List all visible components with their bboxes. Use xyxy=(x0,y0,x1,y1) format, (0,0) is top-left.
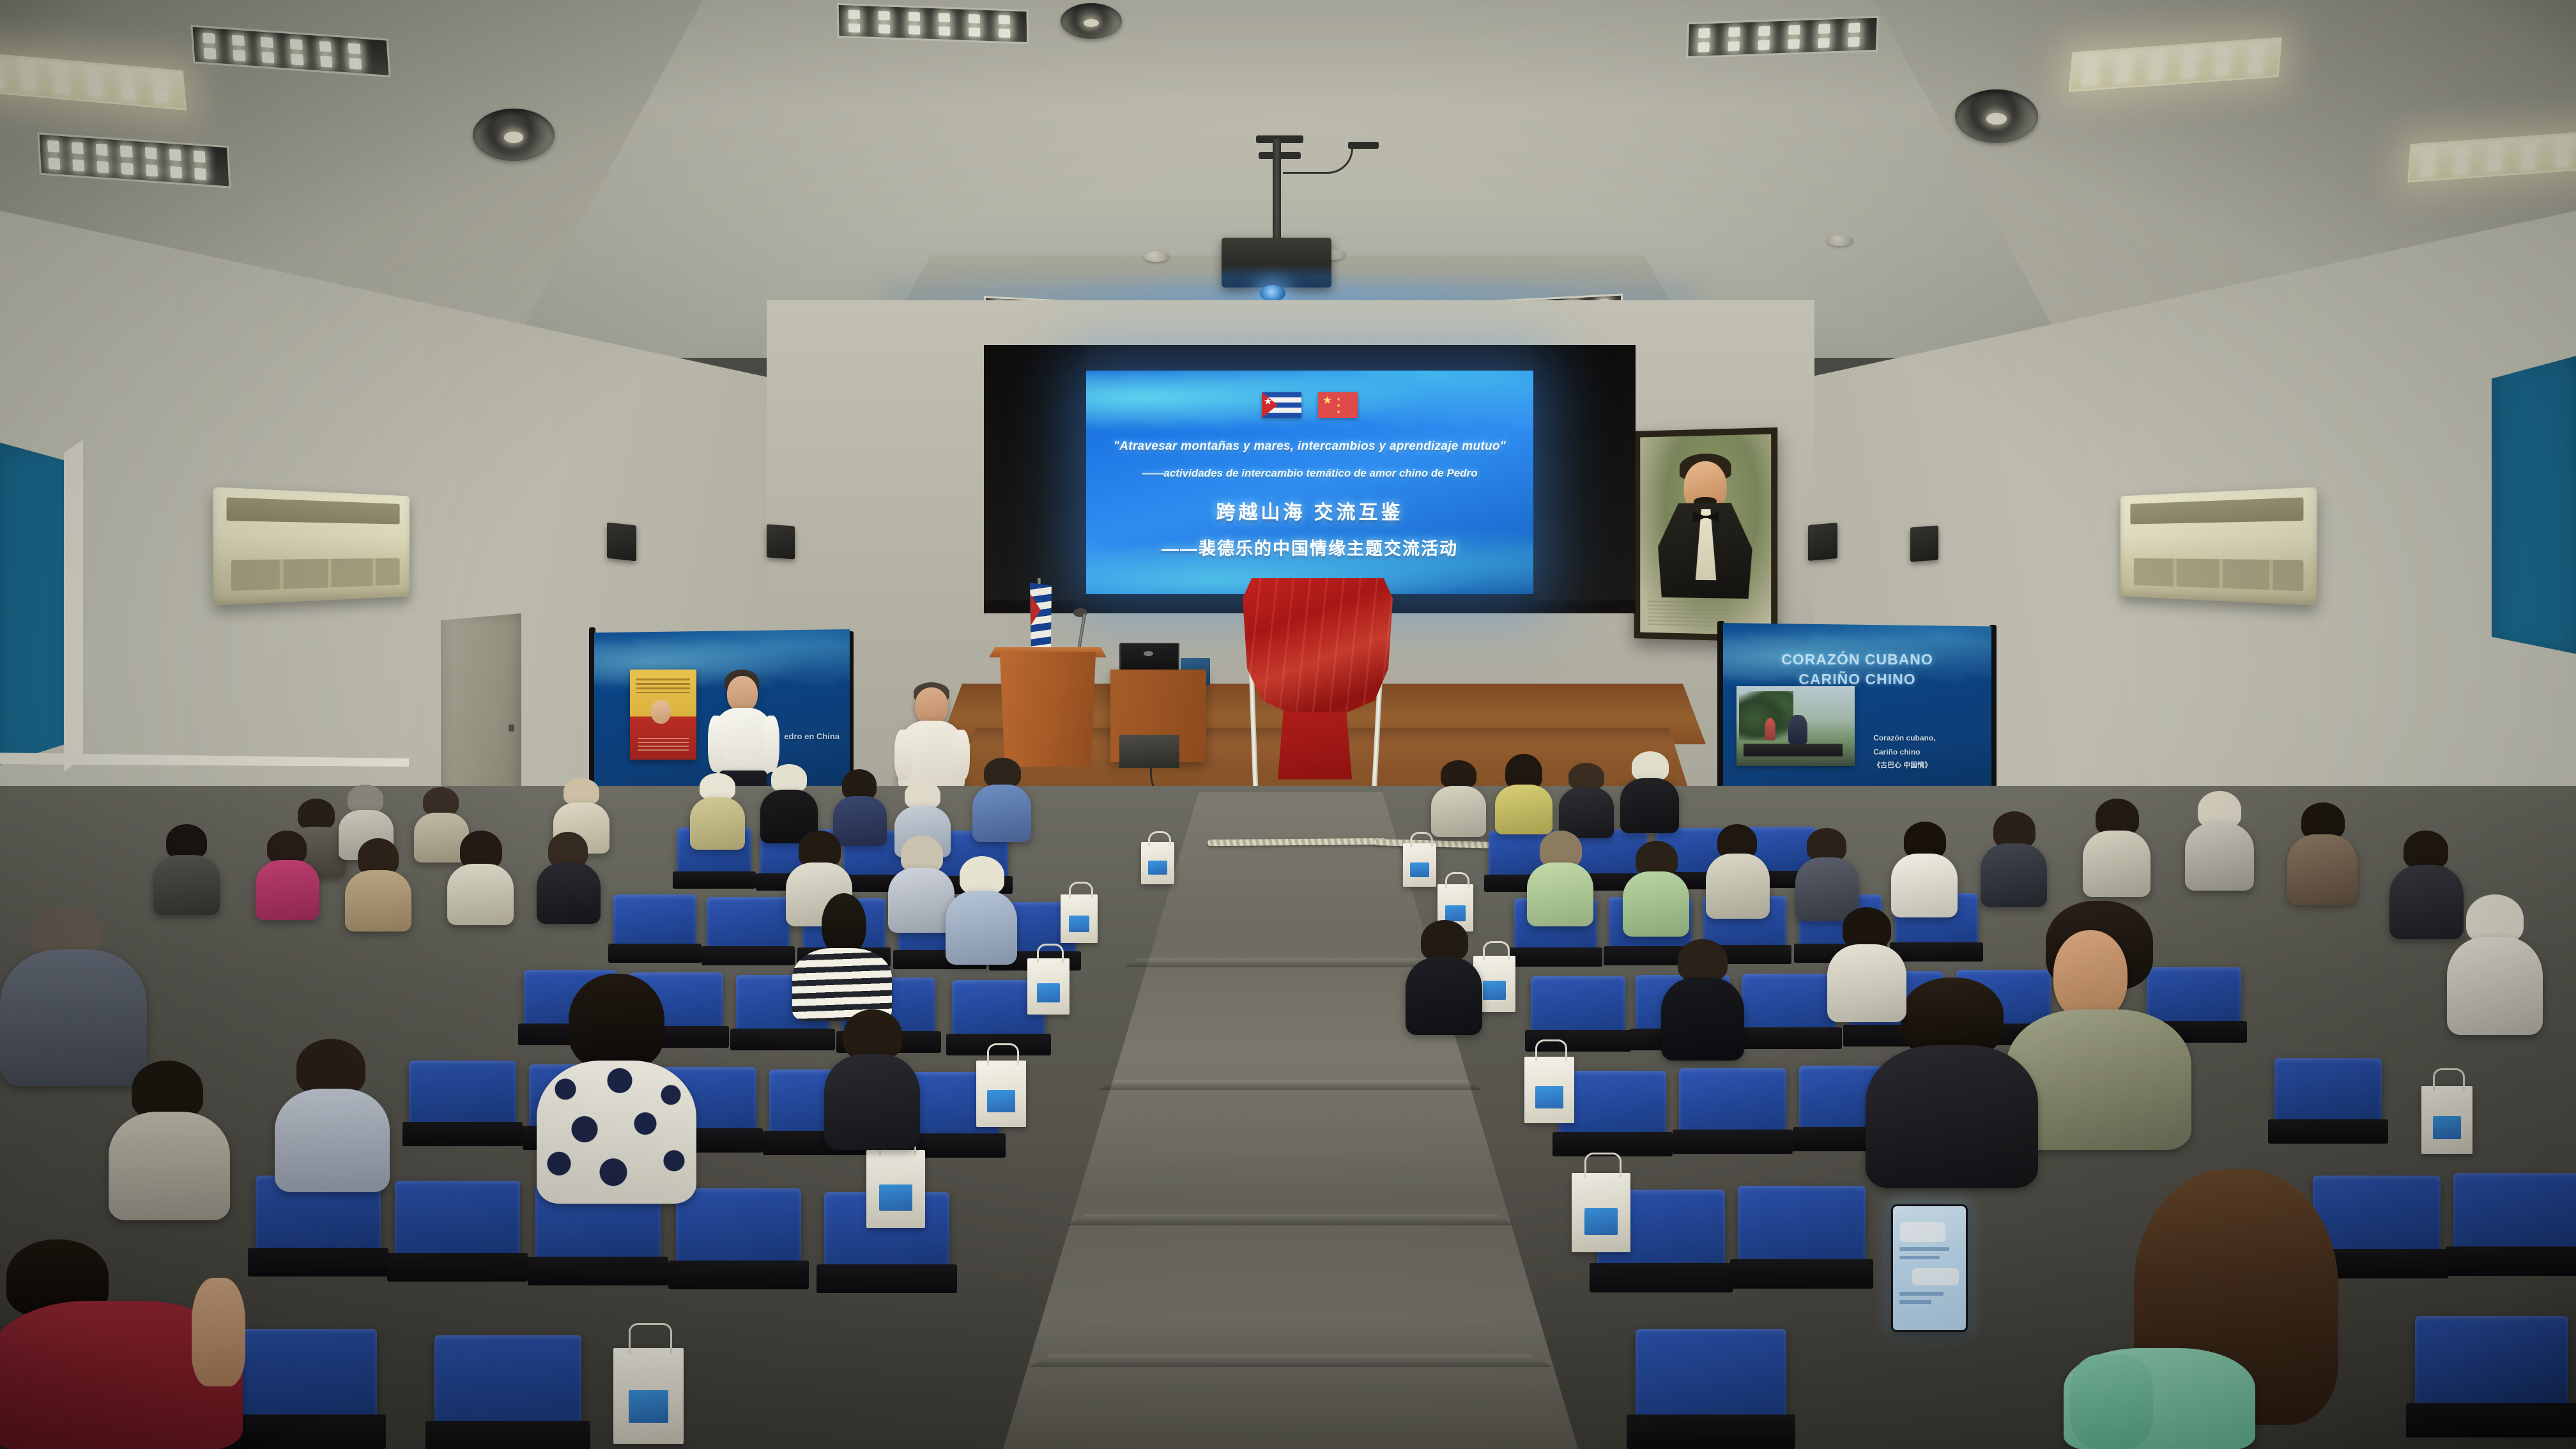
air-conditioner-left xyxy=(213,487,410,605)
phone-text-row xyxy=(1899,1247,1949,1251)
presenter-arm xyxy=(708,716,724,772)
audience-member xyxy=(256,831,319,920)
event-tote-bag[interactable] xyxy=(866,1150,925,1228)
audience-member xyxy=(153,824,220,915)
audience-torso xyxy=(109,1112,230,1220)
auditorium-chair[interactable] xyxy=(2274,1058,2382,1122)
audience-member xyxy=(946,856,1017,965)
projection-screen: "Atravesar montañas y mares, intercambio… xyxy=(1086,371,1533,594)
audience-hair xyxy=(1807,828,1846,861)
audience-member xyxy=(2447,894,2543,1035)
projector-body xyxy=(1222,238,1331,287)
audience-torso xyxy=(946,891,1017,965)
auditorium-chair[interactable] xyxy=(409,1061,516,1124)
slide-text-block: "Atravesar montañas y mares, intercambio… xyxy=(1086,440,1533,560)
audience-hair xyxy=(267,831,307,864)
audience-torso xyxy=(690,797,745,850)
audience-hair xyxy=(1632,751,1669,781)
audience-member xyxy=(824,1009,920,1150)
audience-torso xyxy=(1981,843,2047,907)
audience-member xyxy=(109,1061,230,1220)
wall-trim xyxy=(64,440,83,772)
recessed-downlight xyxy=(1955,89,2038,143)
smoke-detector xyxy=(1144,251,1169,262)
audience-hair xyxy=(563,778,599,805)
air-conditioner-right xyxy=(2120,487,2317,605)
audience-member xyxy=(0,907,147,1086)
banner-photo xyxy=(1736,686,1855,765)
phone-message-bubble xyxy=(1900,1222,1945,1242)
audience-hair xyxy=(1421,920,1468,961)
audience-torso xyxy=(1661,977,1744,1061)
audience-torso xyxy=(537,862,601,924)
wall-speaker xyxy=(767,524,795,559)
audience-torso xyxy=(824,1054,920,1150)
china-flag-icon xyxy=(1318,392,1358,418)
wall-speaker xyxy=(1910,525,1938,562)
event-tote-bag[interactable] xyxy=(1572,1173,1630,1252)
audience-torso xyxy=(2447,937,2543,1035)
auditorium-chair[interactable] xyxy=(1742,974,1836,1030)
audience-hair xyxy=(166,824,207,859)
ceiling-light-fixture xyxy=(1686,16,1879,59)
audience-hair xyxy=(1843,907,1891,948)
banner-photo-bench xyxy=(1744,744,1843,756)
slide-chinese-subtitle: ——裴德乐的中国情缘主题交流活动 xyxy=(1098,535,1522,560)
audience-torso xyxy=(345,870,411,931)
auditorium-chair[interactable] xyxy=(707,897,790,948)
audience-hair-braid xyxy=(822,893,866,956)
right-banner-sub2: Cariño chino xyxy=(1873,746,1920,758)
audience-member xyxy=(1495,754,1552,834)
wall-speaker xyxy=(607,523,636,562)
audience-head xyxy=(2053,930,2127,1021)
slide-chinese-title: 跨越山海 交流互鉴 xyxy=(1098,496,1522,525)
audience-hair xyxy=(842,769,877,800)
audience-hair xyxy=(700,773,735,800)
audience-member xyxy=(2083,799,2150,897)
presenter-arm xyxy=(952,730,970,781)
audience-hair xyxy=(348,785,383,813)
audience-torso xyxy=(153,855,220,915)
audience-torso xyxy=(1706,854,1770,919)
cuba-flag-icon xyxy=(1262,392,1301,418)
audience-member xyxy=(1559,763,1614,838)
audience-member xyxy=(1661,939,1744,1061)
event-tote-bag[interactable] xyxy=(1061,894,1098,943)
event-tote-bag[interactable] xyxy=(1524,1057,1574,1123)
auditorium-chair[interactable] xyxy=(2453,1173,2576,1250)
right-banner-title-line2: CARIÑO CHINO xyxy=(1723,671,1991,688)
audience-hair xyxy=(1441,760,1476,788)
audience-hair xyxy=(31,907,101,954)
right-banner-sub1: Corazón cubano, xyxy=(1873,732,1935,744)
aisle-step xyxy=(1099,1080,1482,1090)
audience-torso xyxy=(447,864,514,925)
stage-curtain-left xyxy=(984,345,1086,601)
audience-torso xyxy=(2185,823,2254,891)
event-tote-bag[interactable] xyxy=(2421,1086,2472,1154)
audience-member xyxy=(537,832,601,924)
audience-torso xyxy=(1431,786,1486,837)
banner-photo-figure xyxy=(1765,718,1775,740)
audience-member xyxy=(275,1039,390,1192)
audience-torso xyxy=(888,868,954,933)
audience-member xyxy=(888,836,954,933)
auditorium-chair[interactable] xyxy=(613,894,696,946)
audience-member xyxy=(345,838,411,931)
audience-hair xyxy=(984,758,1021,787)
phone-text-row xyxy=(1899,1292,1943,1296)
audience-member xyxy=(447,831,514,925)
audience-member xyxy=(1623,841,1689,937)
audience-hair-bob xyxy=(569,974,664,1069)
lectern xyxy=(997,652,1099,767)
audience-member-mint-top xyxy=(2044,1169,2338,1449)
event-tote-bag[interactable] xyxy=(1027,958,1069,1015)
audience-member xyxy=(1431,760,1486,837)
right-banner-title-line1: CORAZÓN CUBANO xyxy=(1723,651,1991,668)
auditorium-chair[interactable] xyxy=(1679,1068,1786,1132)
right-banner-sub3: 《古巴心 中国情》 xyxy=(1873,760,1931,771)
audience-member-striped xyxy=(792,893,892,1021)
smoke-detector xyxy=(1827,235,1853,246)
banner-book-cover xyxy=(630,670,696,760)
phone-text-row xyxy=(1899,1256,1940,1260)
left-banner-caption: edro en China xyxy=(784,732,839,741)
audience-hair xyxy=(2403,831,2448,869)
audience-torso xyxy=(256,860,319,920)
auditorium-scene: "Atravesar montañas y mares, intercambio… xyxy=(0,0,2576,1449)
audience-hair xyxy=(905,781,940,809)
auditorium-chair[interactable] xyxy=(1559,1071,1666,1135)
phone-text-row xyxy=(1899,1300,1931,1304)
audience-torso xyxy=(1866,1045,2038,1188)
audience-hair xyxy=(960,856,1004,894)
right-rollup-banner: CORAZÓN CUBANO CARIÑO CHINO Corazón cuba… xyxy=(1723,623,1991,799)
audience-member xyxy=(2287,802,2357,905)
slide-flags xyxy=(1086,392,1533,418)
audience-member xyxy=(1891,822,1958,917)
audience-hair xyxy=(296,1039,365,1095)
audience-torso xyxy=(1620,778,1679,833)
projector-pole xyxy=(1273,139,1281,241)
audience-torso xyxy=(1527,862,1593,926)
presenter-arm xyxy=(894,730,912,781)
audience-member xyxy=(690,773,745,850)
recessed-downlight xyxy=(1061,3,1122,39)
wall-accent-panel-teal xyxy=(2492,355,2576,655)
auditorium-chair[interactable] xyxy=(1636,1329,1786,1418)
audience-hair xyxy=(1568,763,1604,790)
computer-tower xyxy=(1119,735,1179,768)
audience-torso xyxy=(2083,831,2150,897)
audience-smartphone[interactable] xyxy=(1891,1204,1968,1332)
audience-torso xyxy=(1495,785,1552,834)
presenter-head xyxy=(915,687,948,724)
framed-portrait xyxy=(1634,427,1778,642)
aisle-step xyxy=(1029,1354,1552,1367)
audience-torso xyxy=(1827,944,1906,1022)
audience-dress xyxy=(537,1061,696,1204)
easel-drape-skirt xyxy=(1278,706,1352,779)
audience-member xyxy=(1406,920,1482,1035)
audience-hair xyxy=(298,799,335,829)
audience-member xyxy=(1620,751,1679,833)
audience-torso xyxy=(275,1089,390,1192)
event-tote-bag[interactable] xyxy=(613,1348,684,1444)
phone-message-bubble xyxy=(1912,1268,1959,1285)
event-tote-bag[interactable] xyxy=(1403,843,1436,887)
audience-hair xyxy=(843,1009,902,1059)
audience-member xyxy=(1706,824,1770,919)
audience-hair xyxy=(423,787,459,815)
event-tote-bag[interactable] xyxy=(1141,842,1174,884)
audience-torso xyxy=(1406,957,1482,1035)
ceiling-light-fixture xyxy=(837,3,1029,45)
auditorium-chair[interactable] xyxy=(434,1335,581,1425)
audience-hair xyxy=(1678,939,1728,981)
audience-member xyxy=(2185,791,2254,891)
audience-member xyxy=(1527,831,1593,926)
audience-hair xyxy=(132,1061,203,1119)
projector-lens xyxy=(1260,285,1285,302)
ceiling-cable-anchor xyxy=(1348,142,1379,149)
audience-hair xyxy=(2466,894,2524,943)
cuban-flag-on-pole xyxy=(1030,583,1052,658)
slide-spanish-quote: "Atravesar montañas y mares, intercambio… xyxy=(1098,440,1522,454)
audience-torso xyxy=(1623,871,1689,937)
audience-member xyxy=(1981,811,2047,907)
wall-speaker xyxy=(1808,523,1837,561)
auditorium-chair[interactable] xyxy=(395,1181,520,1256)
auditorium-chair[interactable] xyxy=(1531,976,1625,1032)
stage-curtain-right xyxy=(1533,345,1636,601)
auditorium-chair[interactable] xyxy=(2415,1316,2568,1407)
recessed-downlight xyxy=(473,109,555,161)
presenter-head xyxy=(727,676,758,712)
slide-spanish-subtitle: ——actividades de intercambio temático de… xyxy=(1098,467,1522,480)
audience-member xyxy=(1827,907,1906,1022)
event-tote-bag[interactable] xyxy=(976,1061,1026,1127)
auditorium-chair[interactable] xyxy=(1738,1186,1866,1262)
aisle-step xyxy=(1067,1214,1514,1225)
audience-member-patterned-dress xyxy=(537,974,696,1204)
audience-torso xyxy=(2287,834,2357,905)
audience-member xyxy=(972,758,1031,842)
audience-torso xyxy=(972,785,1031,842)
audience-hair xyxy=(771,764,807,792)
audience-arm xyxy=(2070,1354,2153,1449)
audience-arm xyxy=(192,1278,245,1386)
audience-hair xyxy=(460,831,502,869)
audience-member-red-shirt xyxy=(0,1239,287,1449)
presenter-arm xyxy=(763,716,779,772)
audience-hair xyxy=(1901,977,2004,1054)
banner-photo-figure xyxy=(1788,715,1807,744)
